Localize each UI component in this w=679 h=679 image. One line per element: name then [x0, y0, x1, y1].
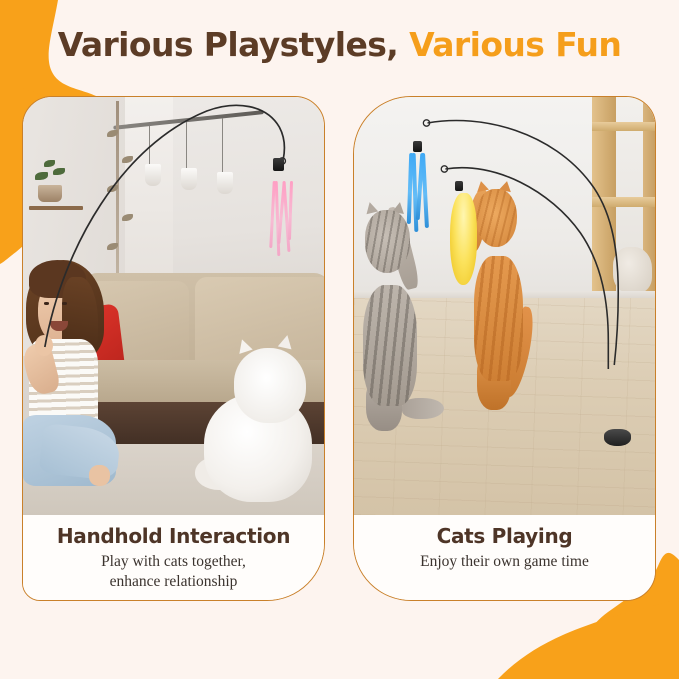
page-title: Various Playstyles, Various Fun — [58, 25, 622, 64]
toy-rods-overlay — [354, 97, 655, 515]
caption-cats-playing: Cats Playing Enjoy their own game time — [354, 515, 655, 601]
wand-rod-curve — [45, 105, 285, 347]
page-title-accent: Various Fun — [409, 25, 621, 64]
banner-header: Various Playstyles, Various Fun — [0, 0, 679, 88]
yellow-feather-toy — [450, 193, 477, 285]
promo-banner: Various Playstyles, Various Fun — [0, 0, 679, 679]
card-subtitle-handhold: Play with cats together, enhance relatio… — [23, 552, 324, 593]
card-subtitle-cats-playing: Enjoy their own game time — [354, 552, 655, 572]
scene-living-room — [23, 97, 324, 515]
photo-handhold-interaction — [23, 97, 324, 515]
scene-cats-room — [354, 97, 655, 515]
card-title-cats-playing: Cats Playing — [354, 524, 655, 549]
wand-clip-pink — [273, 158, 284, 171]
photo-cats-playing — [354, 97, 655, 515]
card-title-handhold: Handhold Interaction — [23, 524, 324, 549]
card-subtitle-handhold-line2: enhance relationship — [110, 573, 238, 590]
wand-clip-yellow — [455, 181, 463, 191]
suction-cup-base — [604, 429, 631, 446]
feature-card-list: Handhold Interaction Play with cats toge… — [0, 96, 679, 616]
caption-handhold-interaction: Handhold Interaction Play with cats toge… — [23, 515, 324, 601]
feature-card-cats-playing[interactable]: Cats Playing Enjoy their own game time — [353, 96, 656, 601]
wand-clip-blue — [413, 141, 422, 152]
feature-card-handhold-interaction[interactable]: Handhold Interaction Play with cats toge… — [22, 96, 325, 601]
card-subtitle-handhold-line1: Play with cats together, — [101, 553, 246, 570]
page-title-primary: Various Playstyles, — [58, 25, 399, 64]
